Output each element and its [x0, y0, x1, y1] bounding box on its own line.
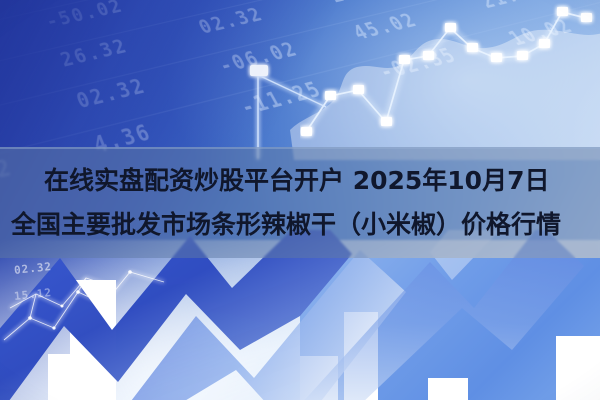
banner-image: -06.02-02.3521.0245.02-11.25 -11.25+5.02…	[0, 0, 600, 400]
vignette-overlay	[0, 0, 600, 400]
